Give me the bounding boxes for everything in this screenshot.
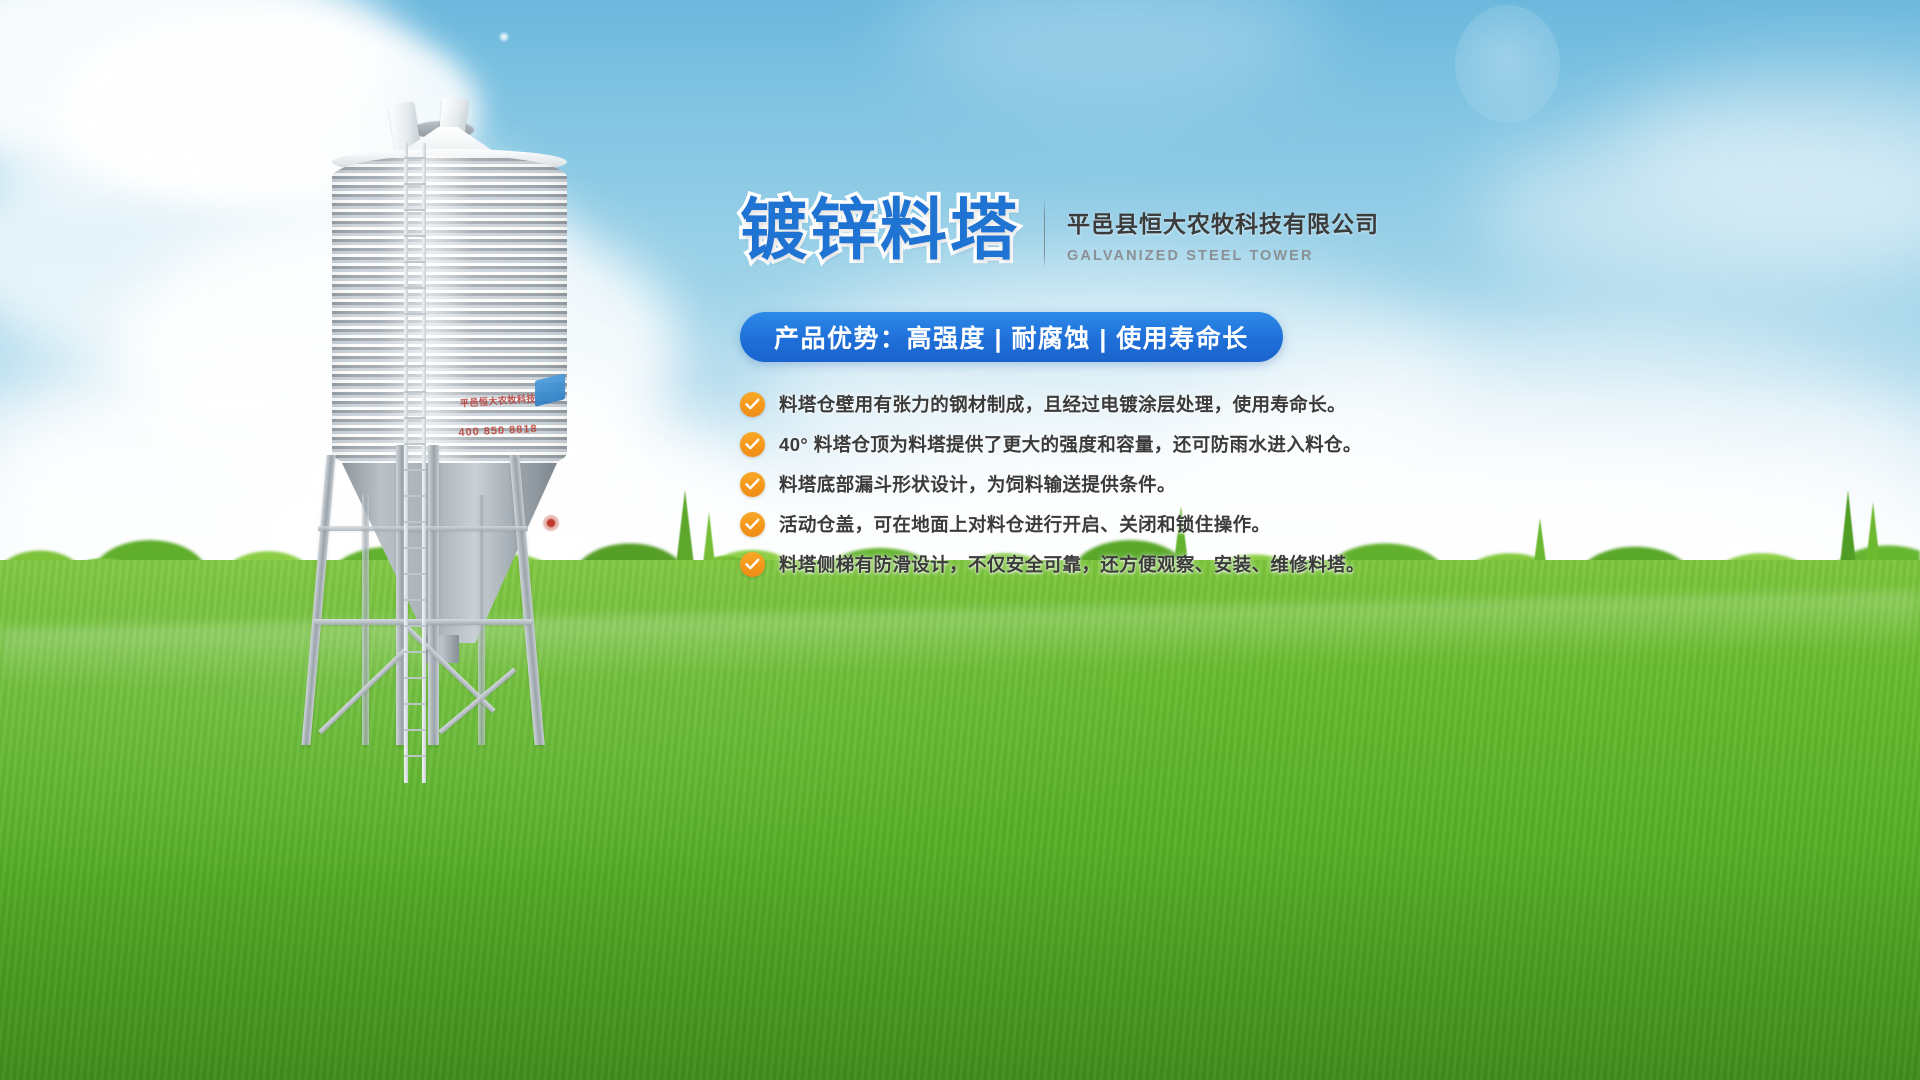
title-divider: [1044, 198, 1045, 268]
grass-shadow-gradient: [0, 850, 1920, 1080]
list-item: 料塔仓壁用有张力的钢材制成，且经过电镀涂层处理，使用寿命长。: [740, 391, 1380, 417]
ladder-rail: [422, 143, 426, 783]
silo-leg: [301, 455, 335, 745]
list-item-label: 料塔仓壁用有张力的钢材制成，且经过电镀涂层处理，使用寿命长。: [779, 391, 1346, 417]
banner-text-panel: 镀锌料塔 平邑县恒大农牧科技有限公司 GALVANIZED STEEL TOWE…: [740, 190, 1380, 591]
page-title: 镀锌料塔: [740, 190, 1020, 272]
check-circle-icon: [740, 472, 765, 497]
sun-glow-icon: [1455, 5, 1560, 123]
list-item-label: 料塔底部漏斗形状设计，为饲料输送提供条件。: [779, 471, 1176, 497]
check-circle-icon: [740, 432, 765, 457]
grass-field: [0, 560, 1920, 1080]
company-name: 平邑县恒大农牧科技有限公司: [1067, 205, 1379, 239]
feature-list: 料塔仓壁用有张力的钢材制成，且经过电镀涂层处理，使用寿命长。 40° 料塔仓顶为…: [740, 391, 1380, 577]
check-circle-icon: [740, 552, 765, 577]
list-item: 活动仓盖，可在地面上对料仓进行开启、关闭和锁住操作。: [740, 511, 1380, 537]
list-item-label: 40° 料塔仓顶为料塔提供了更大的强度和容量，还可防雨水进入料仓。: [779, 431, 1362, 457]
check-circle-icon: [740, 512, 765, 537]
list-item-label: 料塔侧梯有防滑设计，不仅安全可靠，还方便观察、安装、维修料塔。: [779, 551, 1365, 577]
company-block: 平邑县恒大农牧科技有限公司 GALVANIZED STEEL TOWER: [1067, 190, 1379, 264]
list-item: 料塔底部漏斗形状设计，为饲料输送提供条件。: [740, 471, 1380, 497]
check-circle-icon: [740, 392, 765, 417]
silo-valve-icon: [543, 515, 559, 531]
lens-flare-dot-icon: [500, 33, 508, 41]
list-item-label: 活动仓盖，可在地面上对料仓进行开启、关闭和锁住操作。: [779, 511, 1270, 537]
company-subtitle: GALVANIZED STEEL TOWER: [1067, 248, 1379, 264]
title-row: 镀锌料塔 平邑县恒大农牧科技有限公司 GALVANIZED STEEL TOWE…: [740, 190, 1380, 272]
advantage-badge: 产品优势：高强度 | 耐腐蚀 | 使用寿命长: [740, 312, 1283, 362]
ladder-rail: [404, 143, 408, 783]
list-item: 40° 料塔仓顶为料塔提供了更大的强度和容量，还可防雨水进入料仓。: [740, 431, 1380, 457]
silo-side-ladder: [400, 143, 430, 783]
galvanized-feed-silo-image: 平邑恒大农牧科技 400 850 8818: [300, 95, 600, 745]
list-item: 料塔侧梯有防滑设计，不仅安全可靠，还方便观察、安装、维修料塔。: [740, 551, 1380, 577]
